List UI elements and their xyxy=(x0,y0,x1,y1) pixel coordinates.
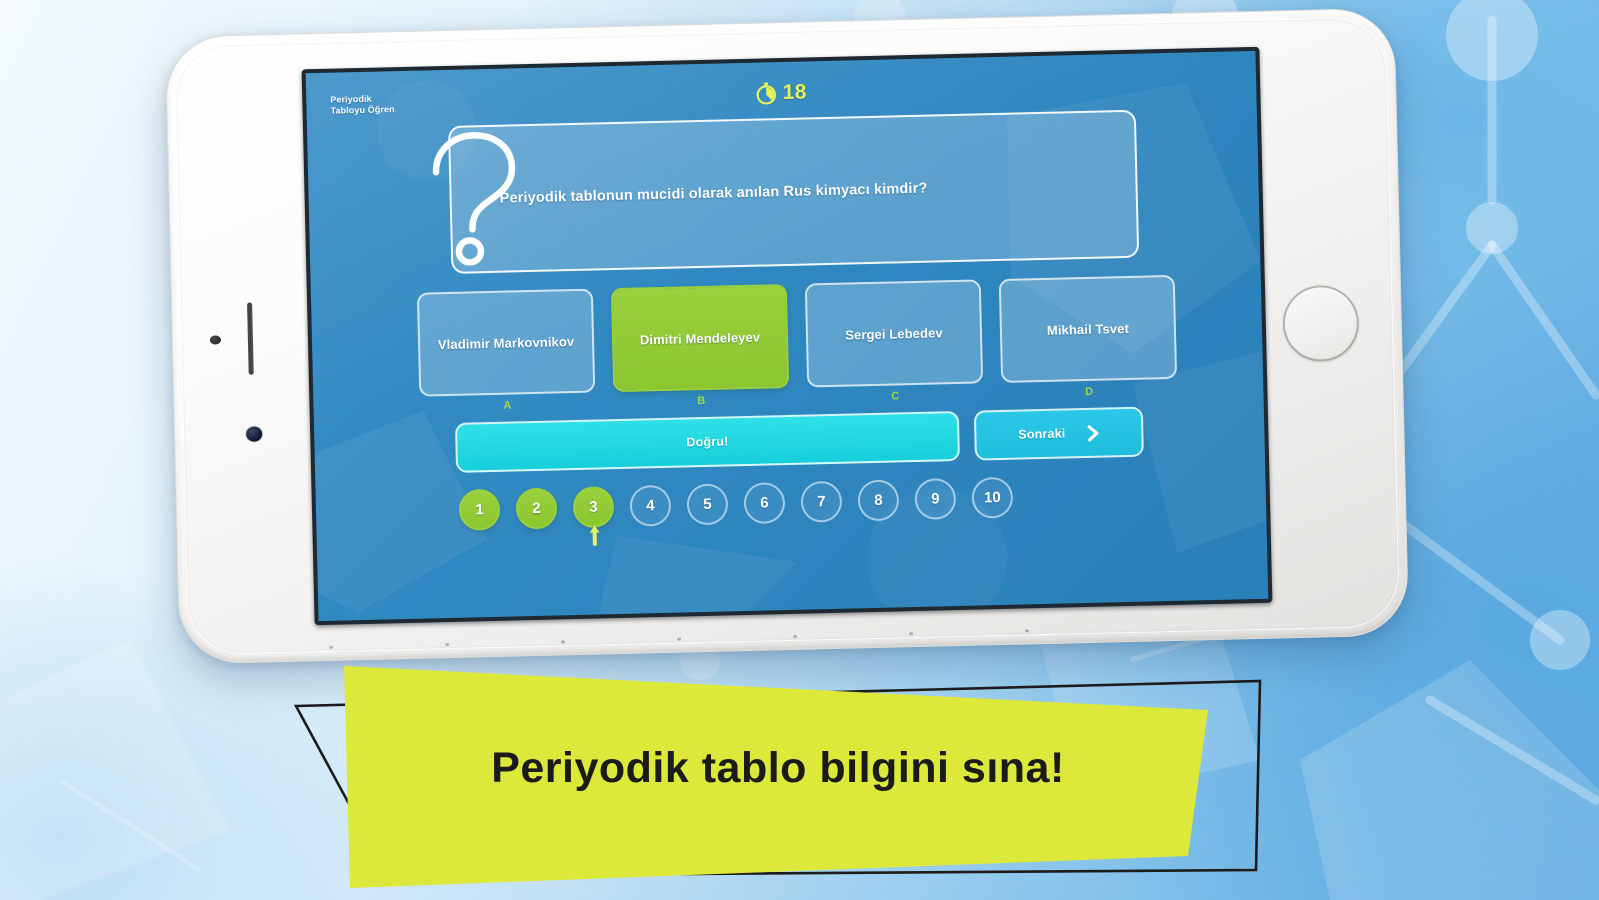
page-wrap-5: 5 xyxy=(686,483,728,540)
answer-options: Vladimir Markovnikov A Dimitri Mendeleye… xyxy=(417,275,1178,414)
page-dot-3[interactable]: 3 xyxy=(573,486,615,528)
page-wrap-2: 2 xyxy=(516,487,558,544)
page-dot-5[interactable]: 5 xyxy=(686,483,728,525)
option-letter-a: A xyxy=(503,400,512,412)
option-col-d: Mikhail Tsvet D xyxy=(999,275,1178,400)
speaker-hole xyxy=(793,635,797,638)
page-wrap-6: 6 xyxy=(743,482,785,539)
screen-bezel: Periyodik Tabloyu Öğren 18 Periyodik tab… xyxy=(302,47,1273,625)
page-wrap-9: 9 xyxy=(914,478,956,535)
page-wrap-7: 7 xyxy=(800,481,842,538)
page-dot-10[interactable]: 10 xyxy=(971,477,1013,519)
speaker-hole xyxy=(1025,629,1029,632)
page-dot-6[interactable]: 6 xyxy=(743,482,785,524)
option-d[interactable]: Mikhail Tsvet xyxy=(999,275,1177,383)
caption-banner: Periyodik tablo bilgini sına! xyxy=(288,648,1268,893)
quiz-app-screen: Periyodik Tabloyu Öğren 18 Periyodik tab… xyxy=(306,51,1269,621)
chevron-right-icon xyxy=(1087,424,1099,441)
option-a[interactable]: Vladimir Markovnikov xyxy=(417,289,595,397)
next-button-label: Sonraki xyxy=(1018,426,1066,441)
speaker-hole xyxy=(445,643,449,646)
option-b[interactable]: Dimitri Mendeleyev xyxy=(611,284,789,392)
arrow-up-icon xyxy=(587,524,602,551)
page-dot-1[interactable]: 1 xyxy=(459,489,501,531)
option-col-a: Vladimir Markovnikov A xyxy=(417,289,596,414)
page-dot-7[interactable]: 7 xyxy=(800,481,842,523)
speaker-hole xyxy=(561,640,565,643)
page-wrap-1: 1 xyxy=(459,489,501,546)
option-letter-d: D xyxy=(1085,386,1094,398)
caption-text: Periyodik tablo bilgini sına! xyxy=(288,744,1268,793)
page-wrap-4: 4 xyxy=(629,485,671,542)
stopwatch-icon xyxy=(756,82,777,104)
option-c[interactable]: Sergei Lebedev xyxy=(805,279,983,387)
timer-value: 18 xyxy=(783,80,808,105)
question-panel: Periyodik tablonun mucidi olarak anılan … xyxy=(448,110,1139,274)
option-letter-c: C xyxy=(891,390,900,402)
option-col-b: Dimitri Mendeleyev B xyxy=(611,284,790,409)
next-button[interactable]: Sonraki xyxy=(974,407,1144,461)
page-dot-9[interactable]: 9 xyxy=(914,478,956,520)
page-wrap-10: 10 xyxy=(971,477,1013,534)
question-text: Periyodik tablonun mucidi olarak anılan … xyxy=(451,179,953,210)
speaker-hole xyxy=(909,632,913,635)
page-dot-8[interactable]: 8 xyxy=(857,479,899,521)
option-letter-b: B xyxy=(697,395,706,407)
page-dot-4[interactable]: 4 xyxy=(629,485,671,527)
page-wrap-8: 8 xyxy=(857,479,899,536)
page-dot-2[interactable]: 2 xyxy=(516,487,558,529)
phone-mockup: Periyodik Tabloyu Öğren 18 Periyodik tab… xyxy=(165,8,1409,665)
speaker-hole xyxy=(677,638,681,641)
page-wrap-3: 3 xyxy=(573,486,615,543)
option-col-c: Sergei Lebedev C xyxy=(805,279,984,404)
